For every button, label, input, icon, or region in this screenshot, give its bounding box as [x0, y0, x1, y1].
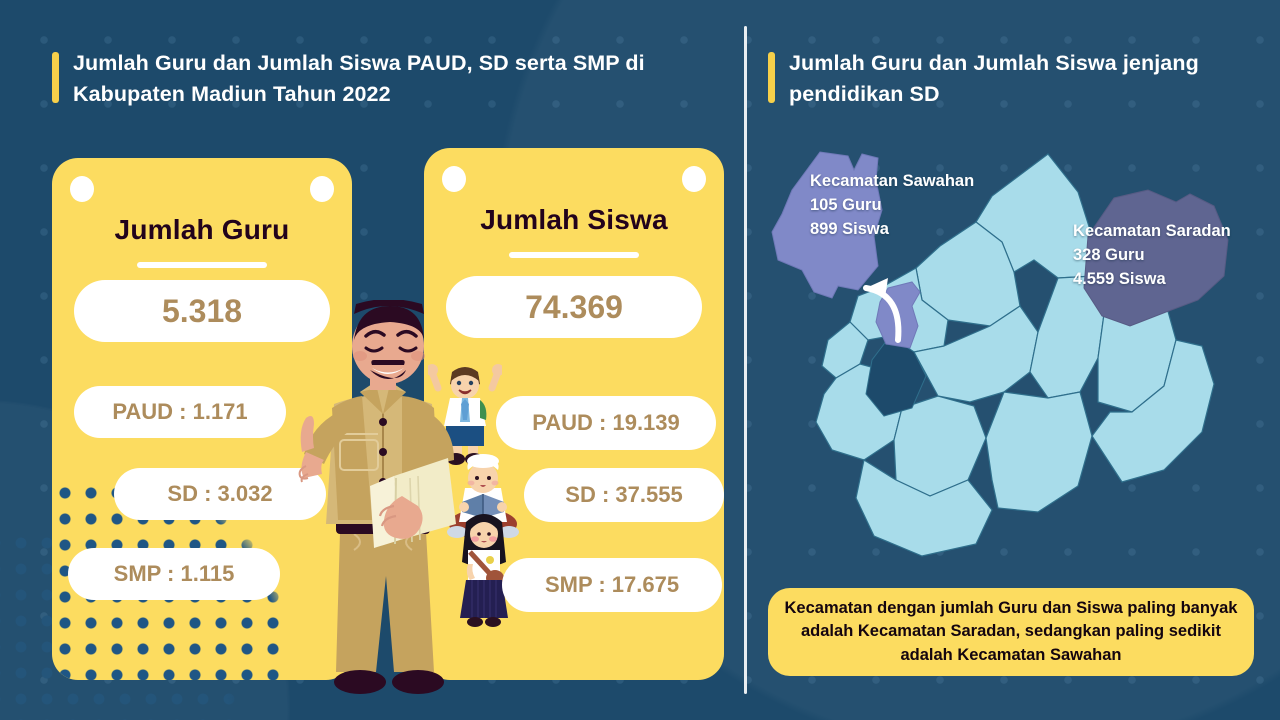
map-label-saradan-siswa: 4.559 Siswa	[1073, 268, 1231, 292]
map-label-saradan-name: Kecamatan Saradan	[1073, 220, 1231, 244]
punch-hole-right-icon	[682, 166, 706, 192]
teacher-illustration	[262, 300, 492, 720]
card-heading-rule	[509, 252, 639, 258]
map-label-sawahan-guru: 105 Guru	[810, 194, 974, 218]
guru-paud-value: PAUD : 1.171	[74, 386, 286, 438]
siswa-sd-value: SD : 37.555	[524, 468, 724, 522]
siswa-paud-value: PAUD : 19.139	[496, 396, 716, 450]
map-region-south-east	[986, 392, 1092, 512]
page-title-right: Jumlah Guru dan Jumlah Siswa jenjang pen…	[768, 48, 1238, 109]
vertical-divider	[744, 26, 747, 694]
card-heading-siswa: Jumlah Siswa	[424, 204, 724, 236]
punch-hole-left-icon	[70, 176, 94, 202]
map-label-saradan-guru: 328 Guru	[1073, 244, 1231, 268]
card-heading-guru: Jumlah Guru	[52, 214, 352, 246]
siswa-smp-value: SMP : 17.675	[502, 558, 722, 612]
guru-smp-value: SMP : 1.115	[68, 548, 280, 600]
card-heading-rule	[137, 262, 267, 268]
map-label-saradan: Kecamatan Saradan 328 Guru 4.559 Siswa	[1073, 220, 1231, 292]
page-title-left: Jumlah Guru dan Jumlah Siswa PAUD, SD se…	[52, 48, 712, 109]
punch-hole-right-icon	[310, 176, 334, 202]
summary-note: Kecamatan dengan jumlah Guru dan Siswa p…	[768, 588, 1254, 676]
map-label-sawahan-name: Kecamatan Sawahan	[810, 170, 974, 194]
map-region-south-central	[894, 396, 986, 496]
punch-hole-left-icon	[442, 166, 466, 192]
map-label-sawahan: Kecamatan Sawahan 105 Guru 899 Siswa	[810, 170, 974, 242]
map-label-sawahan-siswa: 899 Siswa	[810, 218, 974, 242]
